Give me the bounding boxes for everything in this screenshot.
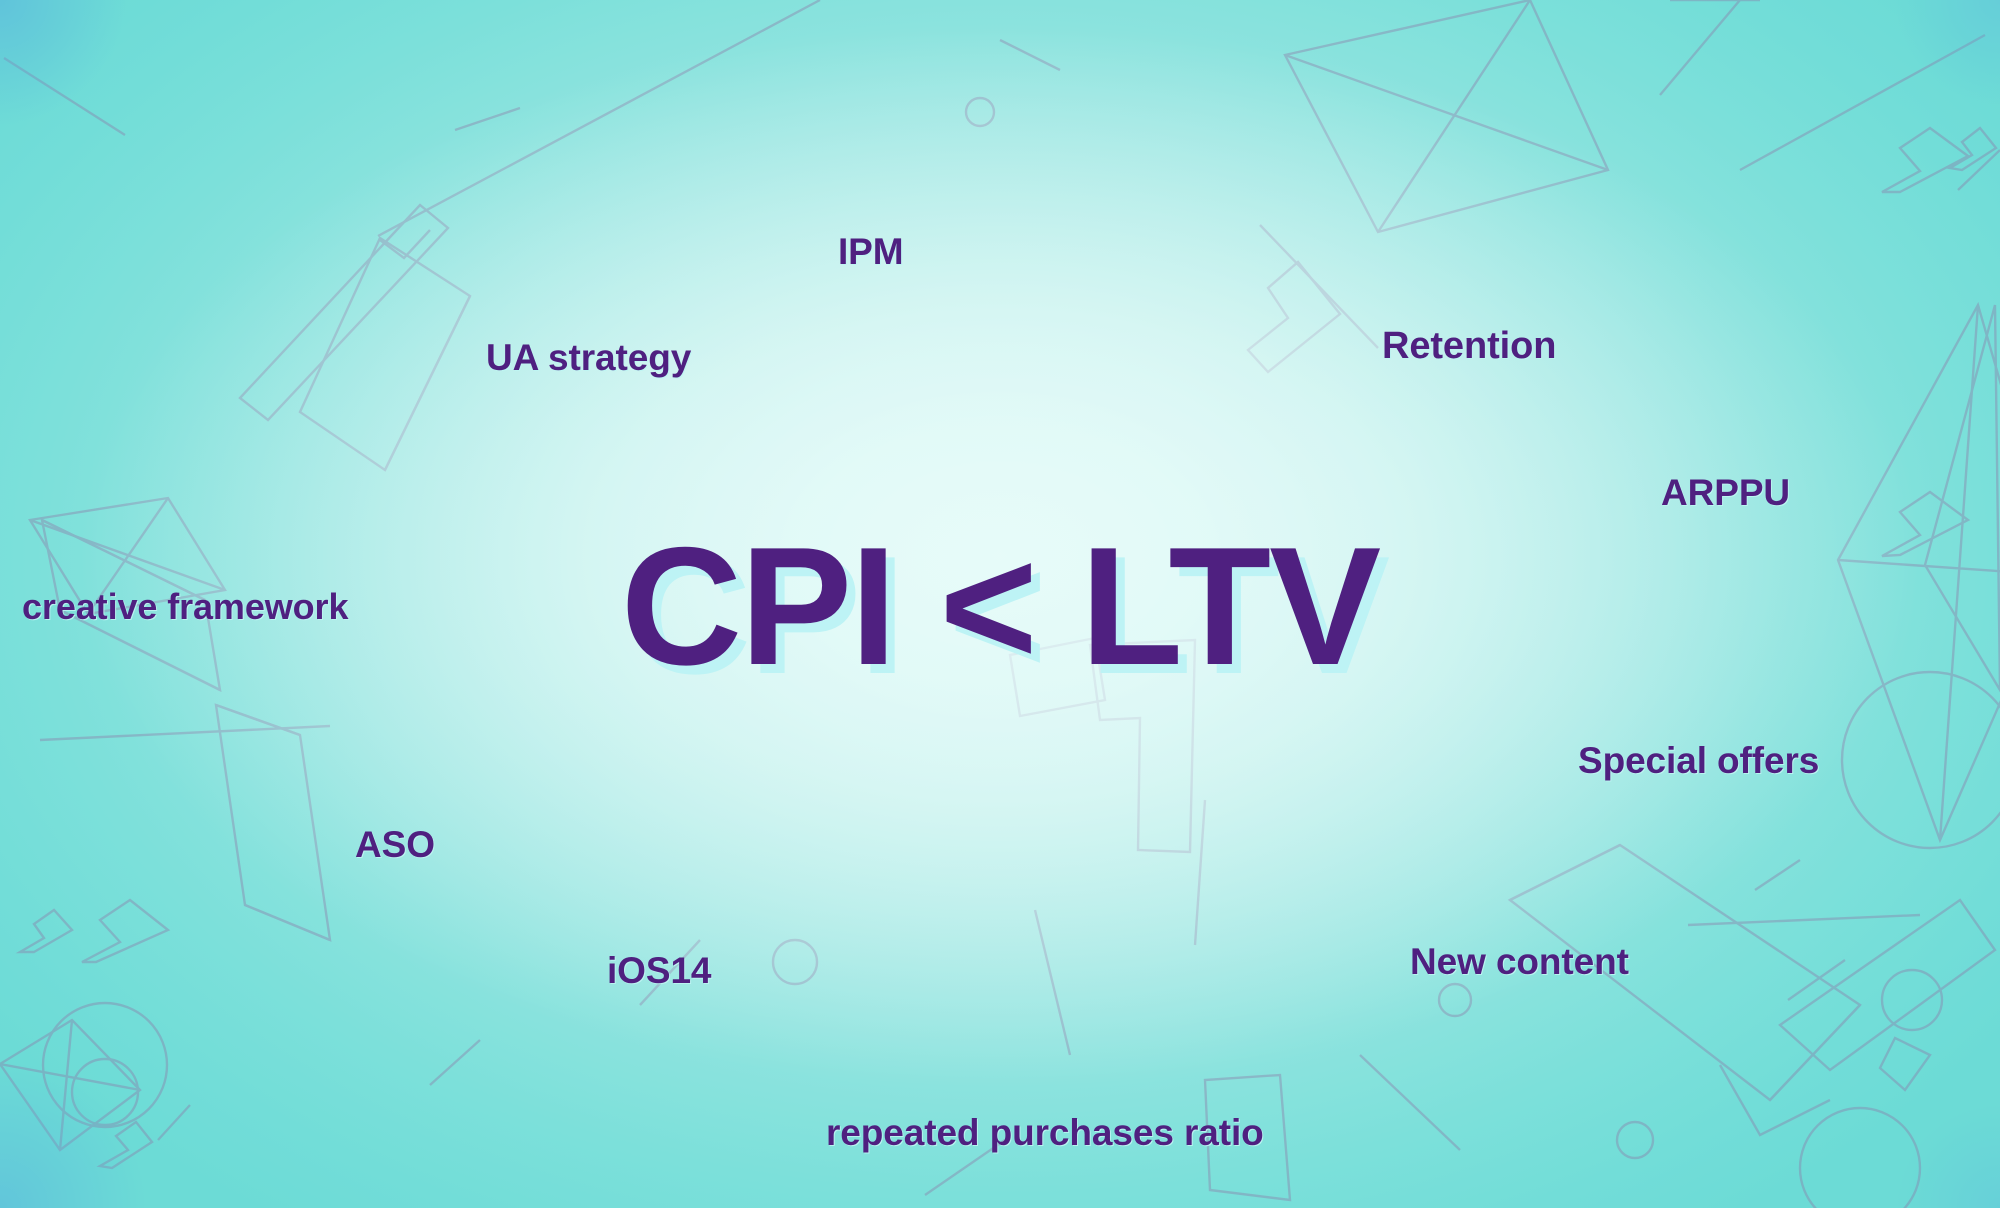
keyword-creative-framework: creative framework [22, 589, 348, 625]
keyword-arppu: ARPPU [1661, 474, 1790, 511]
headline-cpi-lt-ltv: CPI < LTV [621, 522, 1379, 690]
keyword-ipm: IPM [838, 233, 903, 270]
keyword-repeated-purchases-ratio: repeated purchases ratio [826, 1114, 1264, 1151]
keyword-aso: ASO [355, 826, 435, 863]
slide-canvas: IPM UA strategy Retention ARPPU creative… [0, 0, 2000, 1208]
keyword-ua-strategy: UA strategy [486, 339, 691, 376]
keyword-retention: Retention [1382, 327, 1556, 365]
keyword-ios14: iOS14 [607, 952, 711, 989]
keyword-new-content: New content [1410, 943, 1629, 980]
keyword-special-offers: Special offers [1578, 742, 1819, 779]
